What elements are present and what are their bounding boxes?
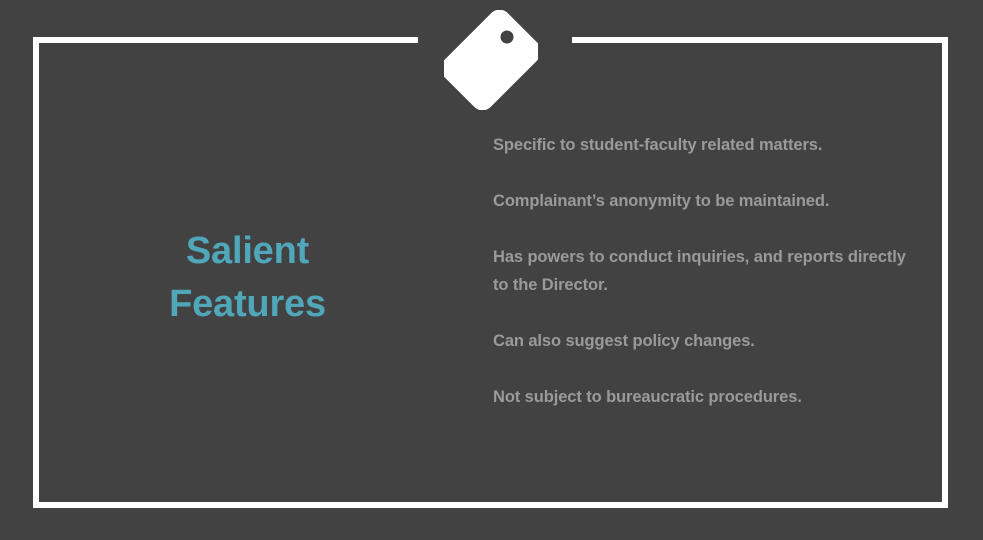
features-list: Specific to student-faculty related matt… — [493, 131, 923, 411]
frame-border-right — [942, 37, 948, 508]
list-item: Has powers to conduct inquiries, and rep… — [493, 243, 923, 299]
tag-icon — [444, 10, 538, 110]
slide-canvas: Salient Features Specific to student-fac… — [0, 0, 983, 540]
page-title-line-2: Features — [60, 278, 435, 331]
frame-border-top-left — [33, 37, 418, 43]
list-item: Specific to student-faculty related matt… — [493, 131, 923, 159]
list-item: Not subject to bureaucratic procedures. — [493, 383, 923, 411]
page-title-line-1: Salient — [60, 225, 435, 278]
frame-border-bottom — [33, 502, 948, 508]
frame-border-top-right — [572, 37, 948, 43]
page-title: Salient Features — [60, 225, 435, 331]
frame-border-left — [33, 37, 39, 508]
list-item: Can also suggest policy changes. — [493, 327, 923, 355]
list-item: Complainant’s anonymity to be maintained… — [493, 187, 923, 215]
